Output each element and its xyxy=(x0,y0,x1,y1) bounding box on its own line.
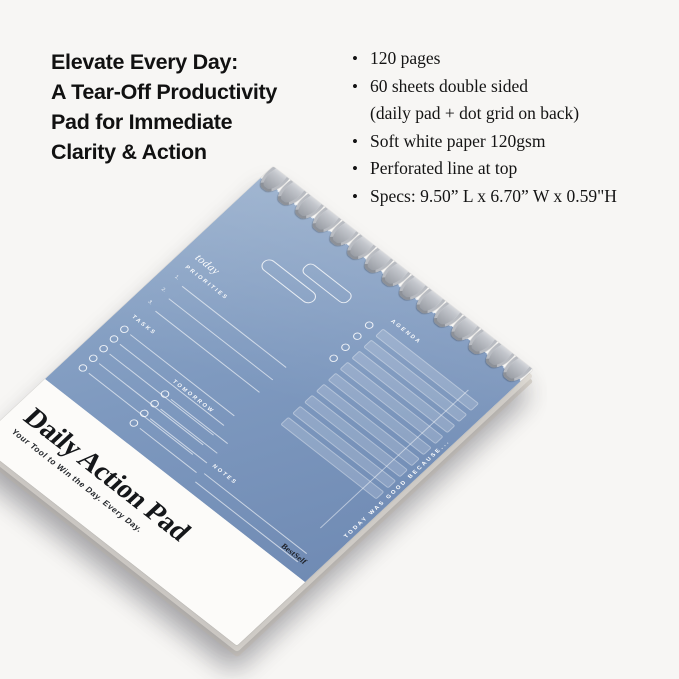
priority-line xyxy=(182,286,287,368)
task-checkbox[interactable] xyxy=(87,353,99,363)
agenda-checkbox[interactable] xyxy=(328,353,340,363)
notepad: today AGENDA xyxy=(0,166,533,645)
priority-number: 1. xyxy=(173,274,181,281)
tomorrow-checkbox[interactable] xyxy=(159,389,171,399)
task-checkbox[interactable] xyxy=(77,363,89,373)
top-sheet: today AGENDA xyxy=(0,166,533,645)
list-item: • Soft white paper 120gsm xyxy=(348,128,648,156)
tomorrow-checkbox[interactable] xyxy=(128,418,140,428)
task-checkbox[interactable] xyxy=(98,343,110,353)
list-item-label: Perforated line at top xyxy=(370,158,517,178)
bullet-icon: • xyxy=(352,155,358,183)
bullet-icon: • xyxy=(352,128,358,156)
page-title: Elevate Every Day: A Tear-Off Productivi… xyxy=(51,47,336,167)
specs-list: • 120 pages • 60 sheets double sided (da… xyxy=(348,45,648,210)
priority-number: 2. xyxy=(160,287,168,294)
list-item-label: Soft white paper 120gsm xyxy=(370,131,545,151)
list-item: • 60 sheets double sided (daily pad + do… xyxy=(348,73,648,128)
agenda-checkbox[interactable] xyxy=(351,331,363,341)
list-item: • 120 pages xyxy=(348,45,648,73)
tomorrow-checkbox[interactable] xyxy=(138,408,150,418)
priority-line xyxy=(155,311,260,393)
agenda-checkbox[interactable] xyxy=(339,342,351,352)
specs-list-items: • 120 pages • 60 sheets double sided (da… xyxy=(348,45,648,210)
priority-number: 3. xyxy=(146,299,154,306)
product-image-scene: Elevate Every Day: A Tear-Off Productivi… xyxy=(0,0,679,679)
list-item-label: 60 sheets double sided xyxy=(370,76,528,96)
task-line xyxy=(130,334,235,416)
bullet-icon: • xyxy=(352,45,358,73)
list-item-sublabel: (daily pad + dot grid on back) xyxy=(370,100,648,128)
tomorrow-checkbox[interactable] xyxy=(149,398,161,408)
agenda-checkbox[interactable] xyxy=(363,320,375,330)
list-item-label: 120 pages xyxy=(370,48,440,68)
bullet-icon: • xyxy=(352,73,358,101)
task-checkbox[interactable] xyxy=(108,334,120,344)
product-photo: today AGENDA xyxy=(30,196,570,636)
tasks-label: TASKS xyxy=(130,314,157,336)
priority-line xyxy=(168,298,273,380)
task-checkbox[interactable] xyxy=(118,324,130,334)
list-item: • Perforated line at top xyxy=(348,155,648,183)
